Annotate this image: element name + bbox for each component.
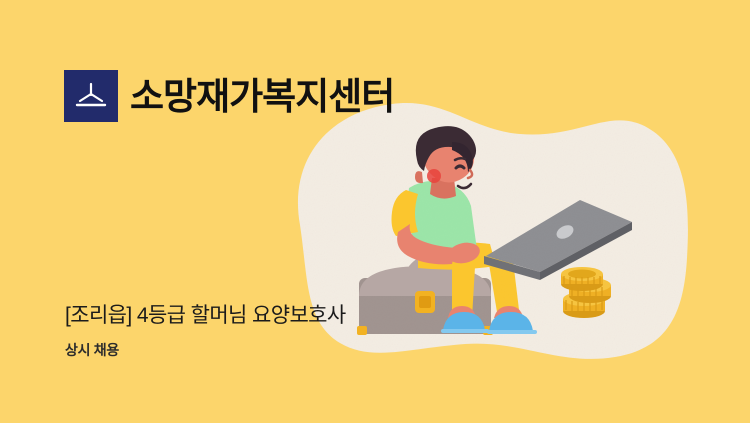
brand-header: 소망재가복지센터 — [64, 70, 394, 122]
company-logo — [64, 70, 118, 122]
company-seal-icon — [74, 81, 108, 111]
shoe-front-icon — [487, 306, 537, 334]
laptop-icon — [484, 200, 632, 280]
person-head-icon — [415, 126, 476, 188]
coin-stack-icon — [561, 267, 611, 318]
company-name: 소망재가복지센터 — [130, 78, 394, 115]
job-title: [조리읍] 4등급 할머님 요양보호사 — [65, 303, 346, 329]
man-working-on-laptop-illustration — [0, 0, 750, 423]
job-recruit-status: 상시 채용 — [65, 341, 119, 359]
job-posting-banner: 소망재가복지센터 [조리읍] 4등급 할머님 요양보호사 상시 채용 — [0, 0, 750, 423]
